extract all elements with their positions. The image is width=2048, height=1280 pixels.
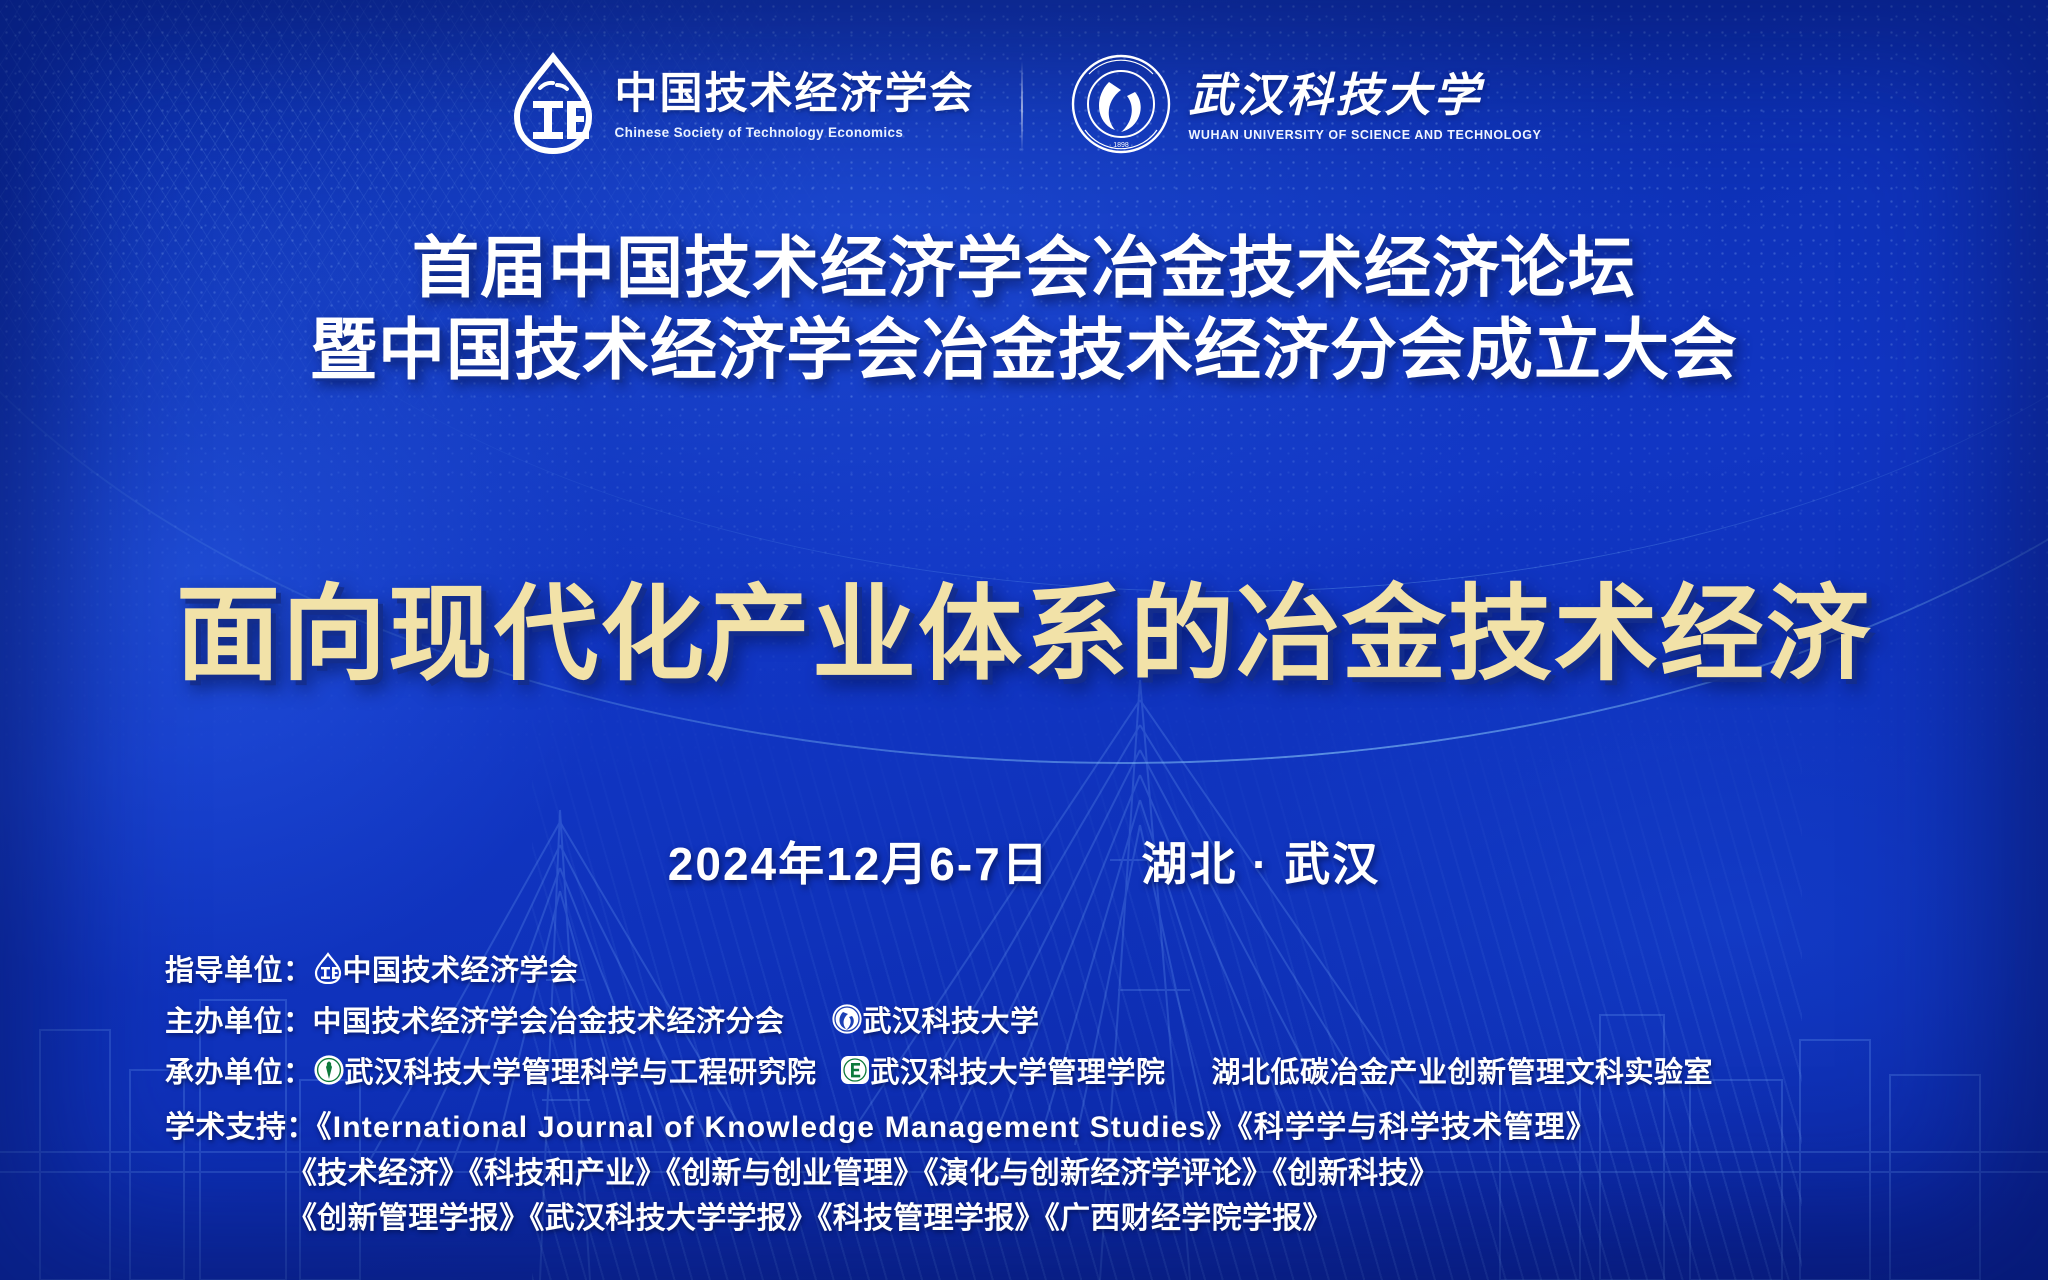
organizer-label: 承办单位： — [165, 1059, 313, 1088]
credit-line-organizer: 承办单位： 武汉科技大学管理科学与工程研究院 武汉科技大学管理学院 — [165, 1054, 2008, 1092]
logo-divider — [1021, 61, 1023, 153]
event-title: 首届中国技术经济学会冶金技术经济论坛 暨中国技术经济学会冶金技术经济分会成立大会 — [0, 228, 2048, 391]
logo-cste-name-en: Chinese Society of Technology Economics — [615, 125, 975, 140]
academic-support-row-1: 学术支持：《International Journal of Knowledge… — [165, 1105, 2008, 1151]
academic-support-row-2: 《技术经济》《科技和产业》《创新与创业管理》《演化与创新经济学评论》《创新科技》 — [165, 1151, 2008, 1197]
guidance-label: 指导单位： — [165, 957, 313, 986]
logo-cste-name-cn: 中国技术经济学会 — [615, 73, 975, 116]
logo-wust-name-en: WUHAN UNIVERSITY OF SCIENCE AND TECHNOLO… — [1189, 128, 1542, 142]
event-theme-headline: 面向现代化产业体系的冶金技术经济 — [0, 578, 2048, 692]
event-title-line-1: 首届中国技术经济学会冶金技术经济论坛 — [0, 228, 2048, 310]
event-date: 2024年12月6-7日 — [668, 838, 1050, 890]
logo-row: 中国技术经济学会 Chinese Society of Technology E… — [0, 52, 2048, 161]
credit-line-host: 主办单位： 中国技术经济学会冶金技术经济分会 武汉科技大学 — [165, 1003, 2008, 1041]
host-organization-1: 中国技术经济学会冶金技术经济分会 — [313, 1008, 785, 1037]
logo-wust-name-cn: 武汉科技大学 — [1189, 72, 1542, 118]
wust-seal-mini-icon — [831, 1003, 863, 1041]
academic-support-journals-1: 《International Journal of Knowledge Mana… — [317, 1111, 1598, 1144]
credits-block: 指导单位： 中国技术经济学会 主办单位： 中国技术经济学会冶金技术经济分会 — [165, 952, 2008, 1242]
credit-line-guidance: 指导单位： 中国技术经济学会 — [165, 952, 2008, 990]
institute-seal-mini-icon — [313, 1054, 345, 1092]
event-location: 湖北 · 武汉 — [1141, 838, 1380, 890]
event-title-line-2: 暨中国技术经济学会冶金技术经济分会成立大会 — [0, 310, 2048, 392]
svg-text:· 1898 ·: · 1898 · — [1108, 142, 1132, 149]
wust-seal-logo-icon: · 1898 · — [1069, 52, 1173, 161]
logo-cste: 中国技术经济学会 Chinese Society of Technology E… — [507, 52, 975, 161]
host-label: 主办单位： — [165, 1008, 313, 1037]
host-organization-2: 武汉科技大学 — [863, 1008, 1040, 1037]
logo-wust: · 1898 · 武汉科技大学 WUHAN UNIVERSITY OF SCIE… — [1069, 52, 1542, 161]
academic-support-block: 学术支持：《International Journal of Knowledge… — [165, 1105, 2008, 1242]
cste-shield-mini-icon — [313, 952, 343, 990]
school-seal-mini-icon — [839, 1054, 871, 1092]
conference-banner: 中国技术经济学会 Chinese Society of Technology E… — [0, 0, 2048, 1280]
academic-support-label: 学术支持： — [165, 1111, 317, 1144]
organizer-organization-2: 武汉科技大学管理学院 — [871, 1059, 1166, 1088]
date-location-bar: 2024年12月6-7日 湖北 · 武汉 — [0, 828, 2048, 894]
organizer-organization-1: 武汉科技大学管理科学与工程研究院 — [345, 1059, 817, 1088]
guidance-organization: 中国技术经济学会 — [343, 957, 579, 986]
cste-shield-logo-icon — [507, 52, 599, 161]
organizer-organization-3: 湖北低碳冶金产业创新管理文科实验室 — [1212, 1059, 1714, 1088]
academic-support-row-3: 《创新管理学报》《武汉科技大学学报》《科技管理学报》《广西财经学院学报》 — [165, 1196, 2008, 1242]
